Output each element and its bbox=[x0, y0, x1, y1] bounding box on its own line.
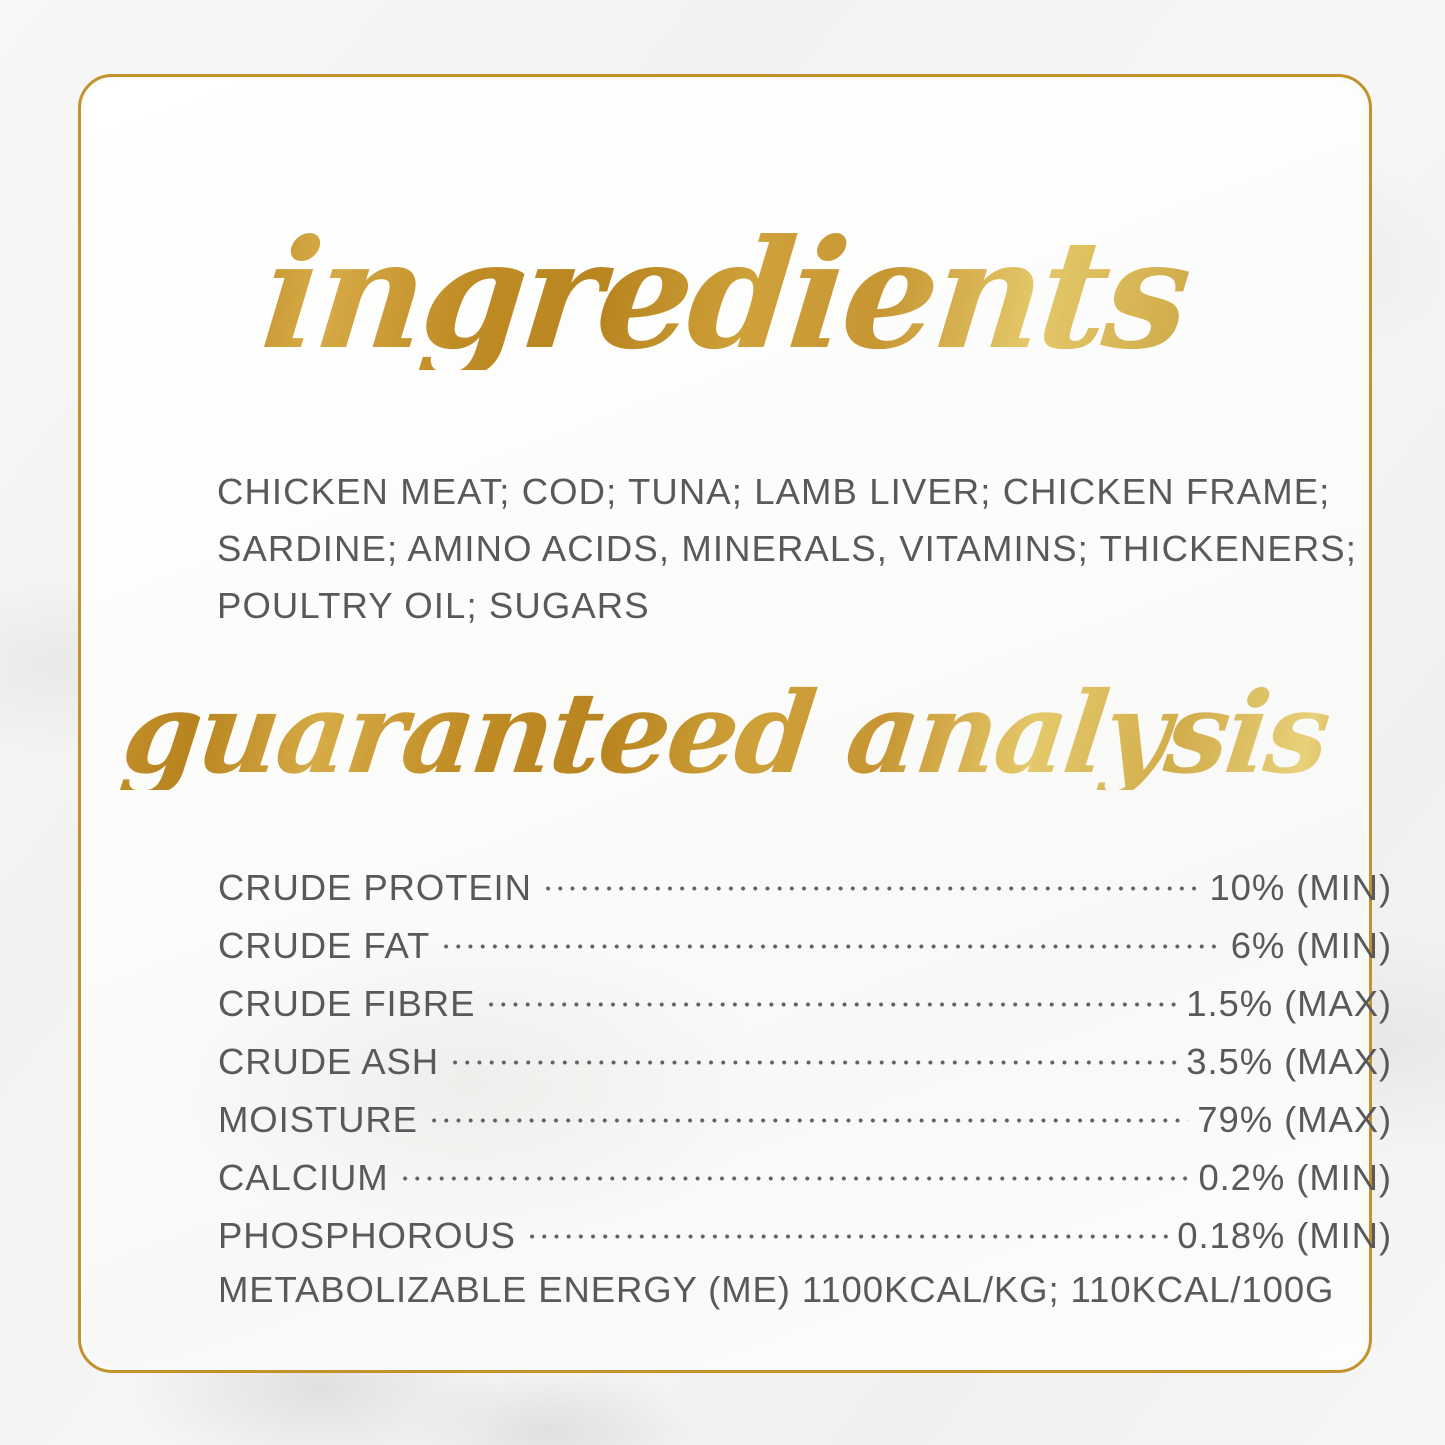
analysis-row: MOISTURE 79% (MAX) bbox=[218, 1095, 1392, 1153]
analysis-row-value: 0.18% (MIN) bbox=[1177, 1215, 1392, 1257]
dot-leader bbox=[542, 863, 1201, 900]
ingredients-heading: ingredients bbox=[73, 220, 1377, 370]
label-content: ingredients CHICKEN MEAT; COD; TUNA; LAM… bbox=[81, 77, 1369, 1370]
analysis-row: CRUDE PROTEIN 10% (MIN) bbox=[218, 863, 1392, 921]
dot-leader bbox=[428, 1095, 1188, 1132]
analysis-row-value: 10% (MIN) bbox=[1209, 867, 1392, 909]
analysis-row-value: 3.5% (MAX) bbox=[1186, 1041, 1392, 1083]
guaranteed-analysis-table: CRUDE PROTEIN 10% (MIN) CRUDE FAT 6% (MI… bbox=[218, 863, 1392, 1327]
analysis-row: PHOSPHOROUS 0.18% (MIN) bbox=[218, 1211, 1392, 1269]
analysis-row-energy: METABOLIZABLE ENERGY (ME) 1100KCAL/KG; 1… bbox=[218, 1269, 1392, 1327]
dot-leader bbox=[399, 1153, 1190, 1190]
pet-food-label-card: ingredients CHICKEN MEAT; COD; TUNA; LAM… bbox=[0, 0, 1445, 1445]
analysis-row-label: PHOSPHOROUS bbox=[218, 1215, 516, 1257]
dot-leader bbox=[526, 1211, 1168, 1248]
dot-leader bbox=[449, 1037, 1177, 1074]
analysis-row: CRUDE FIBRE 1.5% (MAX) bbox=[218, 979, 1392, 1037]
dot-leader bbox=[485, 979, 1177, 1016]
analysis-row-label: CRUDE FIBRE bbox=[218, 983, 475, 1025]
analysis-row-label: CRUDE ASH bbox=[218, 1041, 439, 1083]
analysis-row-label: MOISTURE bbox=[218, 1099, 418, 1141]
ingredients-list: CHICKEN MEAT; COD; TUNA; LAMB LIVER; CHI… bbox=[217, 463, 1397, 634]
analysis-row-label: METABOLIZABLE ENERGY (ME) 1100KCAL/KG; 1… bbox=[218, 1269, 1392, 1311]
analysis-row-value: 1.5% (MAX) bbox=[1186, 983, 1392, 1025]
guaranteed-analysis-heading: guaranteed analysis bbox=[74, 678, 1376, 790]
analysis-row-label: CRUDE FAT bbox=[218, 925, 430, 967]
analysis-row: CRUDE ASH 3.5% (MAX) bbox=[218, 1037, 1392, 1095]
analysis-row: CALCIUM 0.2% (MIN) bbox=[218, 1153, 1392, 1211]
analysis-row-label: CALCIUM bbox=[218, 1157, 389, 1199]
analysis-row-value: 6% (MIN) bbox=[1231, 925, 1392, 967]
analysis-row-value: 0.2% (MIN) bbox=[1198, 1157, 1392, 1199]
ingredients-line: SARDINE; AMINO ACIDS, MINERALS, VITAMINS… bbox=[217, 520, 1397, 577]
analysis-row-label: CRUDE PROTEIN bbox=[218, 867, 532, 909]
ingredients-line: CHICKEN MEAT; COD; TUNA; LAMB LIVER; CHI… bbox=[217, 463, 1397, 520]
ingredients-line: POULTRY OIL; SUGARS bbox=[217, 577, 1397, 634]
gold-border-frame: ingredients CHICKEN MEAT; COD; TUNA; LAM… bbox=[78, 74, 1372, 1373]
dot-leader bbox=[440, 921, 1221, 958]
analysis-row-value: 79% (MAX) bbox=[1197, 1099, 1392, 1141]
analysis-row: CRUDE FAT 6% (MIN) bbox=[218, 921, 1392, 979]
